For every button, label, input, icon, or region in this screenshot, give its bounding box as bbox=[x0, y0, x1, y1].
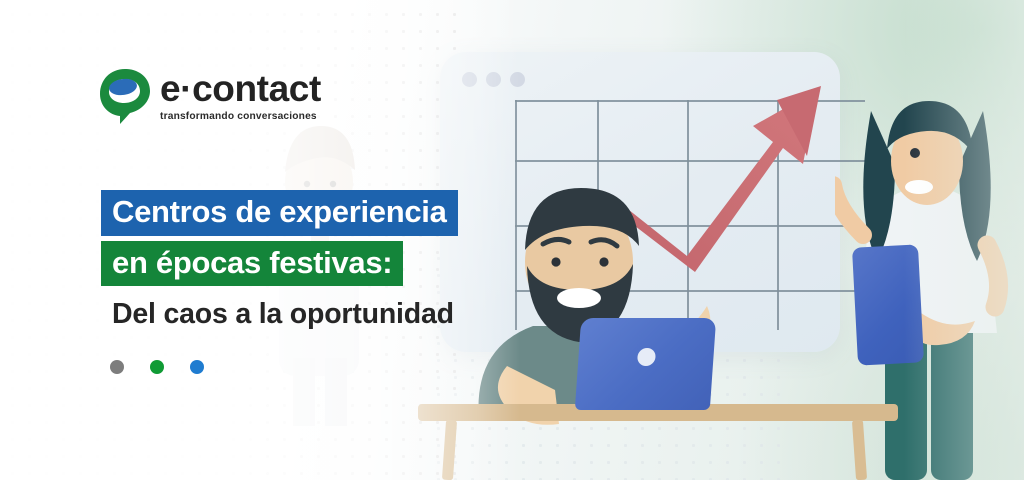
brand-name: e·contact bbox=[160, 70, 321, 107]
accent-dot-gray-icon bbox=[110, 360, 124, 374]
accent-dots bbox=[110, 360, 204, 374]
headline-line-1: Centros de experiencia bbox=[101, 190, 458, 236]
headline: Centros de experiencia en épocas festiva… bbox=[101, 190, 458, 331]
promo-banner: e·contact transformando conversaciones C… bbox=[0, 0, 1024, 480]
e-swoosh-logo-icon bbox=[99, 66, 151, 126]
headline-line-2: en épocas festivas: bbox=[101, 241, 403, 287]
brand-tagline: transformando conversaciones bbox=[160, 112, 321, 122]
accent-dot-green-icon bbox=[150, 360, 164, 374]
headline-line-3: Del caos a la oportunidad bbox=[112, 298, 454, 331]
brand-logo[interactable]: e·contact transformando conversaciones bbox=[99, 66, 321, 126]
accent-dot-blue-icon bbox=[190, 360, 204, 374]
laptop-logo-icon bbox=[636, 348, 655, 366]
desk-leg-right bbox=[852, 420, 867, 480]
tablet bbox=[852, 244, 924, 365]
laptop bbox=[575, 318, 716, 410]
